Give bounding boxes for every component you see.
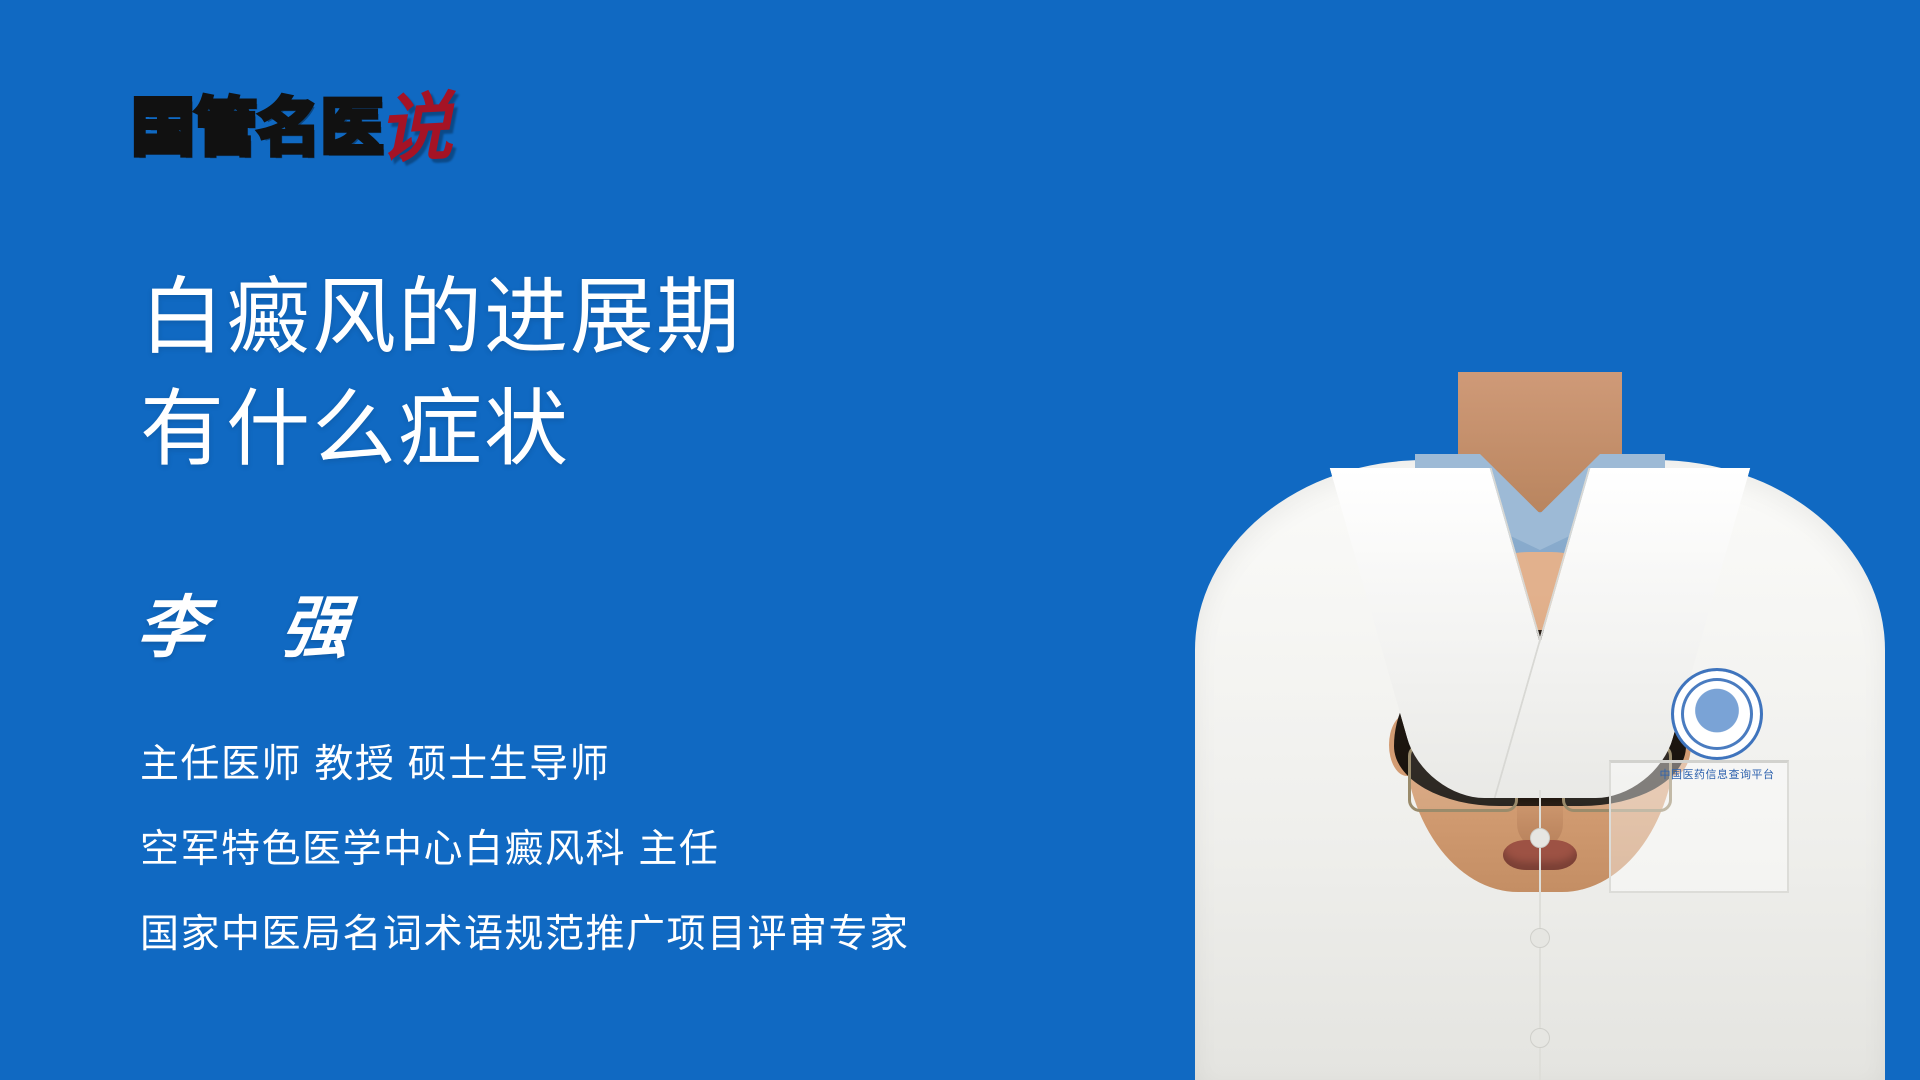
credential-line-2: 空军特色医学中心白癜风科 主任 [140,807,910,892]
platform-badge: 中国医药信息查询平台 [1653,668,1781,782]
doctor-portrait: 中国医药信息查询平台 [1160,70,1920,1080]
title-card: 国管名医 说 白癜风的进展期 有什么症状 李 强 主任医师 教授 硕士生导师 空… [0,0,1920,1080]
badge-label: 中国医药信息查询平台 [1653,766,1781,782]
brand-logo: 国管名医 说 [132,92,452,160]
page-title: 白癜风的进展期 有什么症状 [140,262,742,485]
lab-coat: 中国医药信息查询平台 [1195,460,1885,1080]
brand-logo-accent-text: 说 [376,90,454,168]
coat-button-3 [1530,1028,1550,1048]
badge-emblem-icon [1671,668,1763,760]
title-line-2: 有什么症状 [140,374,742,486]
coat-button-2 [1530,928,1550,948]
coat-button-1 [1530,828,1550,848]
title-line-1: 白癜风的进展期 [140,262,742,374]
brand-logo-main-text: 国管名医 [132,98,384,160]
doctor-name: 李 强 [134,572,380,671]
credential-line-3: 国家中医局名词术语规范推广项目评审专家 [140,892,910,977]
doctor-credentials: 主任医师 教授 硕士生导师 空军特色医学中心白癜风科 主任 国家中医局名词术语规… [140,722,910,977]
credential-line-1: 主任医师 教授 硕士生导师 [140,722,910,807]
